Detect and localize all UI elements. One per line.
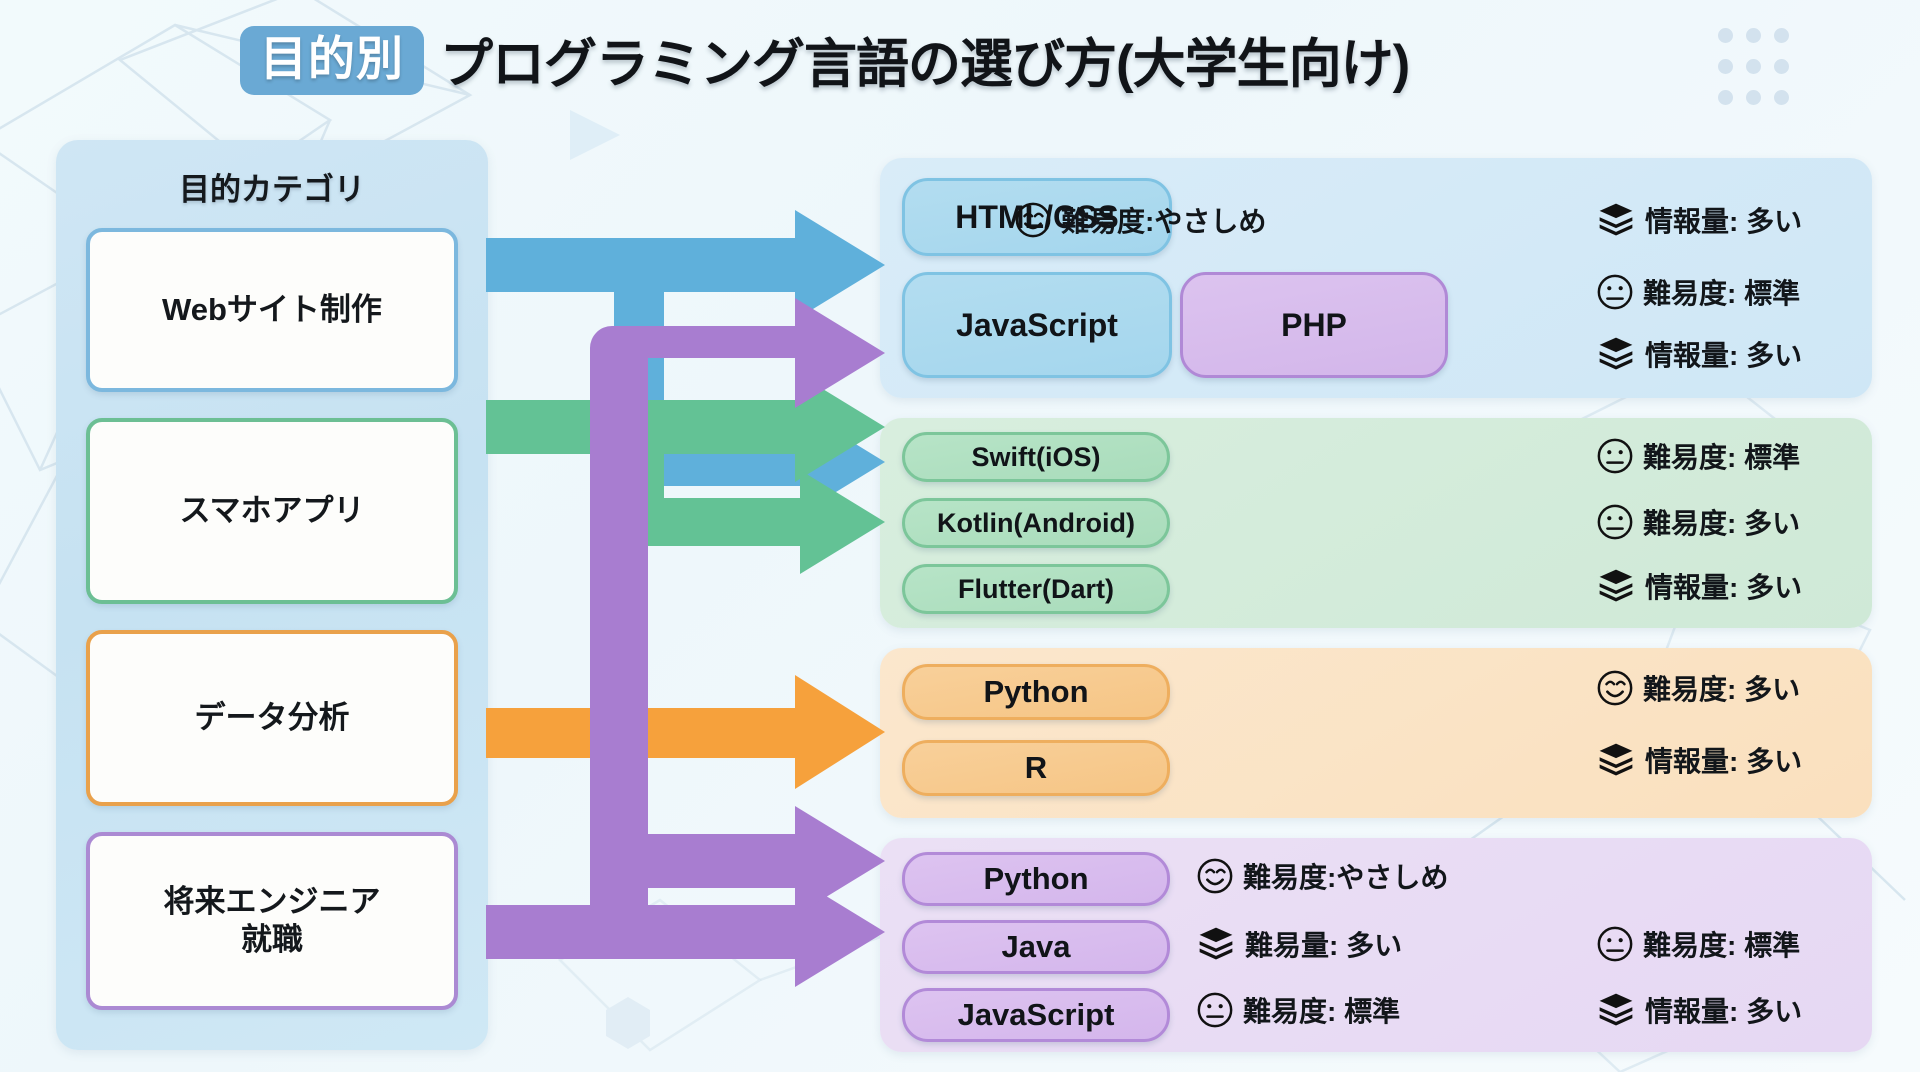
smile-face-icon: [1014, 201, 1052, 239]
title-badge: 目的別: [240, 26, 424, 95]
book-stack-icon: [1596, 334, 1636, 374]
category-label: データ分析: [195, 699, 350, 737]
meta-info-volume-high-2: 情報量: 多い: [1596, 334, 1802, 374]
lang-label: JavaScript: [958, 997, 1115, 1033]
book-stack-icon: [1596, 740, 1636, 780]
meta-difficulty-easy: 難易度:やさしめ: [1014, 200, 1266, 240]
panel-smartphone-app: Swift(iOS) Kotlin(Android) Flutter(Dart)…: [880, 418, 1872, 628]
meta-label: 情報量: 多い: [1645, 200, 1802, 240]
neutral-face-icon: [1596, 503, 1634, 541]
lang-chip-flutter[interactable]: Flutter(Dart): [902, 564, 1170, 614]
lang-chip-java[interactable]: Java: [902, 920, 1170, 974]
neutral-face-icon: [1596, 273, 1634, 311]
meta-difficulty-standard: 難易度: 標準: [1596, 272, 1800, 312]
lang-chip-kotlin[interactable]: Kotlin(Android): [902, 498, 1170, 548]
meta-label: 難易度: 標準: [1643, 272, 1800, 312]
category-label: Webサイト制作: [162, 291, 382, 329]
meta-label: 情報量: 多い: [1645, 566, 1802, 606]
lang-label: Python: [983, 674, 1088, 710]
lang-label: PHP: [1281, 307, 1347, 344]
meta-difficulty-standard: 難易度: 標準: [1596, 924, 1800, 964]
page-title: 目的別 プログラミング言語の選び方(大学生向け): [240, 22, 1409, 98]
meta-difficulty-many: 難易度: 多い: [1596, 668, 1800, 708]
meta-label: 難易度:やさしめ: [1061, 200, 1266, 240]
meta-difficulty-standard: 難易度: 標準: [1596, 436, 1800, 476]
meta-info-volume-high: 情報量: 多い: [1596, 566, 1802, 606]
meta-info-volume-high: 情報量: 多い: [1596, 200, 1802, 240]
category-label: 将来エンジニア 就職: [164, 883, 381, 959]
meta-label: 難易度: 多い: [1643, 668, 1800, 708]
category-future-engineer-career[interactable]: 将来エンジニア 就職: [86, 832, 458, 1010]
smile-face-icon: [1196, 857, 1234, 895]
lang-chip-r[interactable]: R: [902, 740, 1170, 796]
book-stack-icon: [1596, 990, 1636, 1030]
book-stack-icon: [1596, 200, 1636, 240]
smile-face-icon: [1596, 669, 1634, 707]
meta-label: 難易度: 多い: [1643, 502, 1800, 542]
lang-label: R: [1025, 750, 1047, 786]
book-stack-icon: [1196, 924, 1236, 964]
lang-chip-python[interactable]: Python: [902, 664, 1170, 720]
category-data-analysis[interactable]: データ分析: [86, 630, 458, 806]
lang-label: Python: [983, 861, 1088, 897]
meta-label: 情報量: 多い: [1645, 990, 1802, 1030]
lang-chip-swift[interactable]: Swift(iOS): [902, 432, 1170, 482]
meta-label: 難易度: 標準: [1643, 436, 1800, 476]
category-label: スマホアプリ: [179, 492, 364, 530]
meta-label: 情報量: 多い: [1645, 334, 1802, 374]
neutral-face-icon: [1596, 437, 1634, 475]
category-smartphone-app[interactable]: スマホアプリ: [86, 418, 458, 604]
lang-label: Swift(iOS): [972, 442, 1101, 473]
title-heading: プログラミング言語の選び方(大学生向け): [440, 22, 1409, 98]
category-label-line2: 就職: [241, 922, 303, 957]
meta-label: 難易度:やさしめ: [1243, 856, 1448, 896]
purpose-category-heading: 目的カテゴリ: [56, 164, 488, 209]
neutral-face-icon: [1196, 991, 1234, 1029]
neutral-face-icon: [1596, 925, 1634, 963]
meta-label: 難易量: 多い: [1245, 924, 1402, 964]
lang-label: JavaScript: [956, 307, 1118, 344]
meta-difficulty-easy: 難易度:やさしめ: [1196, 856, 1448, 896]
panel-data-analysis: Python R 難易度: 多い 情報量: 多い: [880, 648, 1872, 818]
meta-difficulty-volume-many: 難易量: 多い: [1196, 924, 1402, 964]
purpose-category-panel: 目的カテゴリ Webサイト制作 スマホアプリ データ分析 将来エンジニア 就職: [56, 140, 488, 1050]
meta-info-volume-high: 情報量: 多い: [1596, 740, 1802, 780]
category-label-line1: 将来エンジニア: [164, 884, 381, 919]
meta-label: 難易度: 標準: [1643, 924, 1800, 964]
meta-difficulty-standard-2: 難易度: 標準: [1196, 990, 1400, 1030]
dot-grid-decoration: [1718, 28, 1802, 121]
meta-difficulty-many: 難易度: 多い: [1596, 502, 1800, 542]
meta-label: 難易度: 標準: [1243, 990, 1400, 1030]
meta-label: 情報量: 多い: [1645, 740, 1802, 780]
lang-chip-php[interactable]: PHP: [1180, 272, 1448, 378]
book-stack-icon: [1596, 566, 1636, 606]
meta-info-volume-high: 情報量: 多い: [1596, 990, 1802, 1030]
category-web-site-development[interactable]: Webサイト制作: [86, 228, 458, 392]
panel-future-engineer: Python Java JavaScript 難易度:やさしめ 難易量: 多い: [880, 838, 1872, 1052]
lang-chip-javascript[interactable]: JavaScript: [902, 988, 1170, 1042]
lang-chip-javascript[interactable]: JavaScript: [902, 272, 1172, 378]
lang-chip-python[interactable]: Python: [902, 852, 1170, 906]
panel-web: HTML/CSS JavaScript PHP 難易度:やさしめ 情報量: 多い: [880, 158, 1872, 398]
lang-label: Kotlin(Android): [937, 508, 1135, 539]
lang-label: Flutter(Dart): [958, 574, 1114, 605]
lang-label: Java: [1002, 929, 1071, 965]
